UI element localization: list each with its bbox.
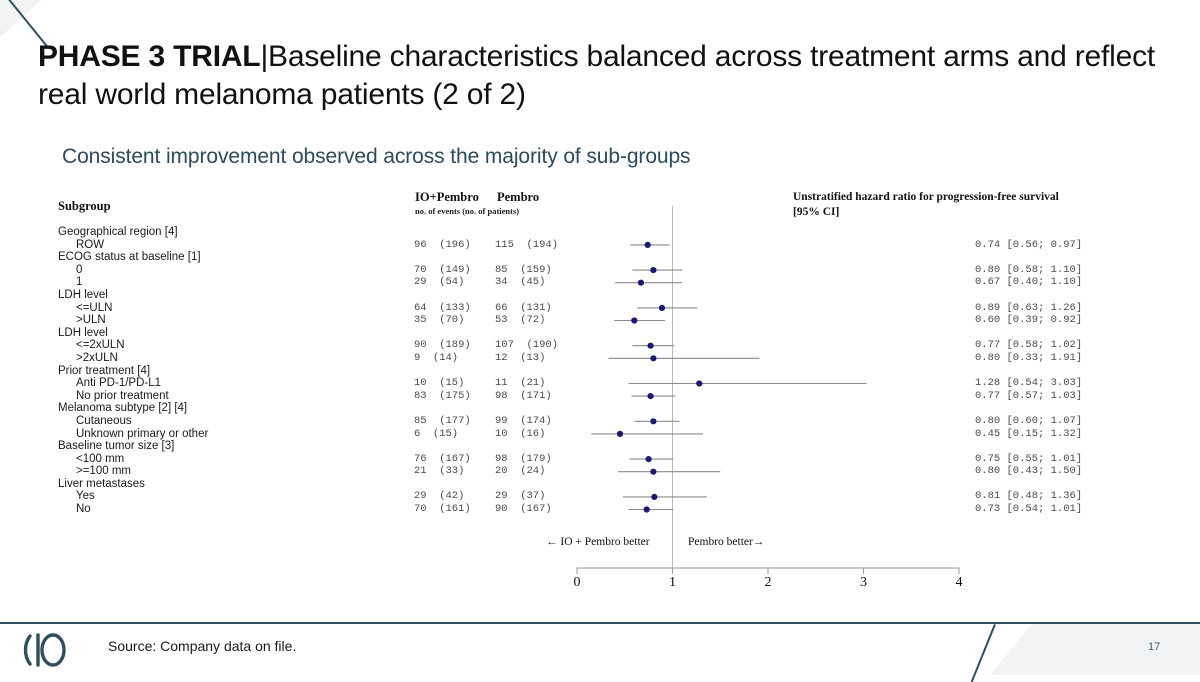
point-estimate-marker (650, 418, 656, 424)
forest-row-1 (630, 242, 669, 248)
title-lead: PHASE 3 TRIAL (38, 40, 260, 73)
forest-row-19 (618, 469, 720, 475)
forest-row-22 (629, 506, 674, 512)
source-note: Source: Company data on file. (108, 638, 296, 654)
point-estimate-marker (651, 494, 657, 500)
forest-row-21 (623, 494, 707, 500)
point-estimate-marker (638, 280, 644, 286)
forest-row-9 (632, 343, 674, 349)
annotation-right: Pembro better→ (688, 536, 764, 548)
annotation-left: ← IO + Pembro better (546, 536, 650, 548)
point-estimate-marker (645, 242, 651, 248)
point-estimate-marker (617, 431, 623, 437)
point-estimate-marker (696, 380, 702, 386)
point-estimate-marker (646, 456, 652, 462)
forest-row-10 (609, 355, 760, 361)
x-tick-label: 2 (765, 575, 772, 591)
title-divider: | (260, 40, 268, 73)
forest-row-6 (637, 305, 697, 311)
page-subtitle: Consistent improvement observed across t… (62, 145, 690, 169)
point-estimate-marker (647, 343, 653, 349)
point-estimate-marker (650, 267, 656, 273)
forest-plot-figure: Subgroup IO+Pembro Pembro no. of events … (0, 180, 1200, 610)
forest-row-12 (629, 380, 867, 386)
forest-row-16 (591, 431, 703, 437)
point-estimate-marker (650, 355, 656, 361)
point-estimate-marker (644, 506, 650, 512)
forest-row-18 (630, 456, 674, 462)
x-tick-label: 1 (669, 575, 676, 591)
page-number: 17 (1148, 641, 1160, 653)
point-estimate-marker (650, 469, 656, 475)
company-logo-icon (22, 630, 76, 670)
forest-row-7 (614, 317, 665, 323)
x-tick-label: 0 (574, 575, 581, 591)
point-estimate-marker (647, 393, 653, 399)
point-estimate-marker (659, 305, 665, 311)
page-title: PHASE 3 TRIAL|Baseline characteristics b… (38, 38, 1158, 115)
point-estimate-marker (631, 317, 637, 323)
forest-row-13 (631, 393, 675, 399)
x-tick-label: 4 (956, 575, 963, 591)
x-tick-label: 3 (860, 575, 867, 591)
forest-row-3 (632, 267, 682, 273)
x-axis (577, 568, 959, 574)
